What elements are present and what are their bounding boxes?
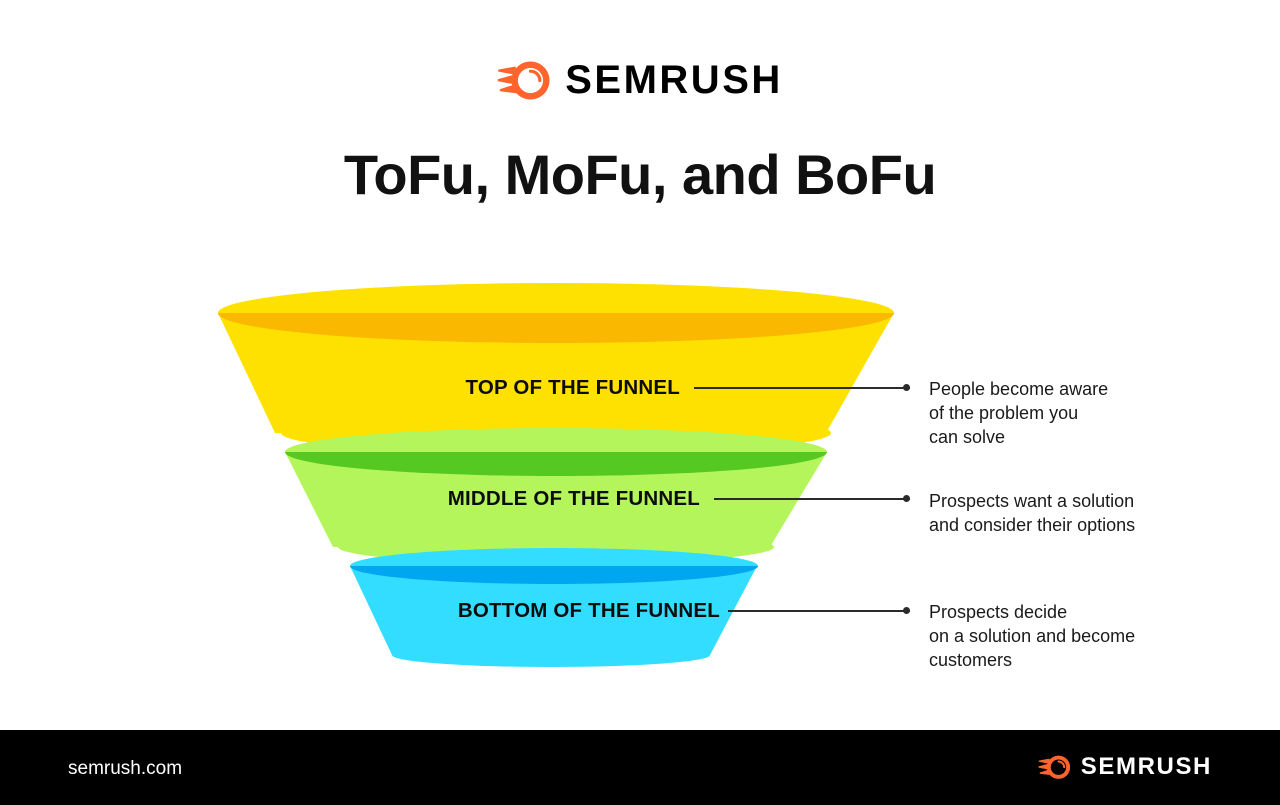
header-brand-wordmark: SEMRUSH [565, 58, 783, 103]
semrush-comet-icon [1038, 754, 1071, 781]
footer-brand-wordmark: SEMRUSH [1081, 753, 1212, 781]
connector-endpoint-dot [903, 384, 910, 391]
header-brand-logo: SEMRUSH [0, 58, 1280, 103]
funnel-description-bottom: Prospects decide on a solution and becom… [929, 600, 1229, 672]
connector-stroke [694, 387, 910, 389]
funnel-description-middle: Prospects want a solution and consider t… [929, 489, 1229, 537]
footer-bar: semrush.com SEMRUSH [0, 730, 1280, 805]
funnel-description-top: People become aware of the problem you c… [929, 377, 1229, 449]
connector-line-top [694, 383, 916, 393]
funnel-label-middle: MIDDLE OF THE FUNNEL [300, 487, 700, 511]
connector-line-middle [714, 494, 916, 504]
footer-brand-logo: SEMRUSH [1038, 753, 1212, 781]
connector-stroke [728, 610, 910, 612]
connector-endpoint-dot [903, 607, 910, 614]
footer-website-url[interactable]: semrush.com [68, 758, 182, 780]
page-title: ToFu, MoFu, and BoFu [0, 144, 1280, 206]
connector-line-bottom [728, 606, 916, 616]
connector-stroke [714, 498, 910, 500]
semrush-comet-icon [497, 59, 551, 103]
infographic-page: SEMRUSH ToFu, MoFu, and BoFu [0, 0, 1280, 805]
connector-endpoint-dot [903, 495, 910, 502]
funnel-label-bottom: BOTTOM OF THE FUNNEL [300, 599, 720, 623]
funnel-label-top: TOP OF THE FUNNEL [300, 376, 680, 400]
